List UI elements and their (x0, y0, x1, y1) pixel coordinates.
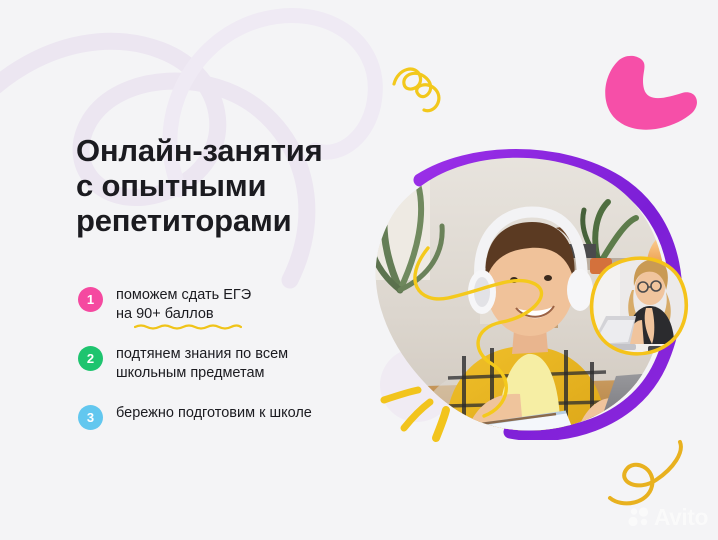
bullet-text-2: подтянем знания по всем школьным предмет… (116, 345, 288, 383)
bullet-badge-2: 2 (78, 346, 103, 371)
photo-composition (360, 140, 690, 440)
yellow-squiggle-icon (390, 62, 470, 122)
bullet-text-1: поможем сдать ЕГЭ на 90+ баллов (116, 286, 251, 324)
promo-banner: Онлайн-занятия с опытными репетиторами 1… (0, 0, 718, 540)
bullet-1-line-2-prefix: на (116, 306, 136, 322)
main-photo (360, 140, 690, 440)
title-line-2: с опытными (76, 168, 356, 203)
bullet-2-line-1: подтянем знания по всем (116, 346, 288, 362)
yellow-loop-squiggle-icon (600, 432, 710, 512)
list-item: 3 бережно подготовим к школе (78, 404, 378, 430)
bullet-badge-1: 1 (78, 287, 103, 312)
bullet-3-line-1: бережно подготовим к школе (116, 405, 312, 421)
bullet-1-highlight-text: 90+ баллов (136, 306, 214, 322)
avito-watermark: Avito (628, 506, 708, 528)
wavy-underline-decoration (134, 323, 242, 330)
bullet-1-line-1: поможем сдать ЕГЭ (116, 287, 251, 303)
title-line-3: репетиторами (76, 203, 356, 238)
bullet-text-3: бережно подготовим к школе (116, 404, 312, 423)
list-item: 1 поможем сдать ЕГЭ на 90+ баллов (78, 286, 378, 324)
bullet-1-highlight: 90+ баллов (136, 305, 214, 324)
bullet-2-line-2: школьным предметам (116, 365, 265, 381)
title-line-1: Онлайн-занятия (76, 133, 356, 168)
benefits-list: 1 поможем сдать ЕГЭ на 90+ баллов 2 подт… (78, 286, 378, 430)
page-title: Онлайн-занятия с опытными репетиторами (76, 133, 356, 238)
list-item: 2 подтянем знания по всем школьным предм… (78, 345, 378, 383)
avito-wordmark: Avito (654, 506, 708, 528)
pink-crescent-shape (596, 55, 706, 135)
avito-dots-icon (628, 506, 650, 528)
bullet-badge-3: 3 (78, 405, 103, 430)
